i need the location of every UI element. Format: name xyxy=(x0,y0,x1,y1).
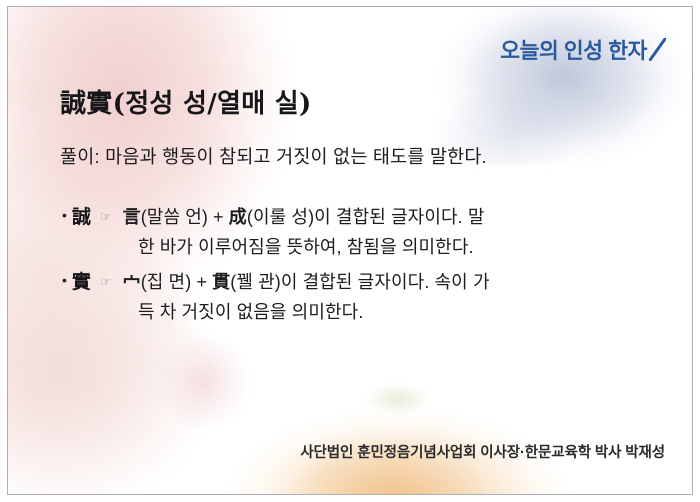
slide-content: 오늘의 인성 한자 誠實(정성 성/열매 실) 풀이: 마음과 행동이 참되고 … xyxy=(8,7,692,494)
component-hanja-2: 貫 xyxy=(212,272,230,293)
check-slash-icon xyxy=(649,38,666,61)
component-gloss-1: (집 면) + xyxy=(141,272,212,292)
bullet-hanja-character: 實 xyxy=(72,267,91,294)
bullet-list: • 誠 ☞ 言(말씀 언) + 成(이룰 성)이 결합된 글자이다. 말 한 바… xyxy=(62,202,662,332)
bullet-continuation-line: 득 차 거짓이 없음을 의미한다. xyxy=(138,298,662,324)
component-hanja-2: 成 xyxy=(229,207,247,228)
bullet-first-line: • 誠 ☞ 言(말씀 언) + 成(이룰 성)이 결합된 글자이다. 말 xyxy=(62,202,662,229)
slide-canvas: 오늘의 인성 한자 誠實(정성 성/열매 실) 풀이: 마음과 행동이 참되고 … xyxy=(0,0,700,502)
component-hanja-1: 言 xyxy=(123,207,141,228)
bullet-dot-icon: • xyxy=(62,208,67,222)
bullet-first-line: • 實 ☞ 宀(집 면) + 貫(꿸 관)이 결합된 글자이다. 속이 가 xyxy=(62,267,662,294)
header-label-text: 오늘의 인성 한자 xyxy=(500,34,647,65)
component-gloss-2: (꿸 관)이 결합된 글자이다. 속이 가 xyxy=(230,272,489,292)
bullet-text: 宀(집 면) + 貫(꿸 관)이 결합된 글자이다. 속이 가 xyxy=(123,268,490,294)
slide-frame: 오늘의 인성 한자 誠實(정성 성/열매 실) 풀이: 마음과 행동이 참되고 … xyxy=(7,6,693,495)
component-hanja-1: 宀 xyxy=(123,272,141,293)
bullet-hanja-character: 誠 xyxy=(72,202,91,229)
component-gloss-2: (이룰 성)이 결합된 글자이다. 말 xyxy=(247,207,485,227)
definition-line: 풀이: 마음과 행동이 참되고 거짓이 없는 태도를 말한다. xyxy=(60,143,487,169)
bullet-dot-icon: • xyxy=(62,273,67,287)
list-item: • 誠 ☞ 言(말씀 언) + 成(이룰 성)이 결합된 글자이다. 말 한 바… xyxy=(62,202,662,259)
header-label: 오늘의 인성 한자 xyxy=(500,34,666,65)
bullet-continuation-line: 한 바가 이루어짐을 뜻하여, 참됨을 의미한다. xyxy=(138,233,662,259)
page-title: 誠實(정성 성/열매 실) xyxy=(60,83,312,120)
pointing-hand-icon: ☞ xyxy=(100,209,112,225)
component-gloss-1: (말씀 언) + xyxy=(141,207,229,227)
footer-attribution: 사단법인 훈민정음기념사업회 이사장·한문교육학 박사 박재성 xyxy=(300,441,665,462)
list-item: • 實 ☞ 宀(집 면) + 貫(꿸 관)이 결합된 글자이다. 속이 가 득 … xyxy=(62,267,662,324)
bullet-text: 言(말씀 언) + 成(이룰 성)이 결합된 글자이다. 말 xyxy=(123,203,485,229)
pointing-hand-icon: ☞ xyxy=(100,274,112,290)
